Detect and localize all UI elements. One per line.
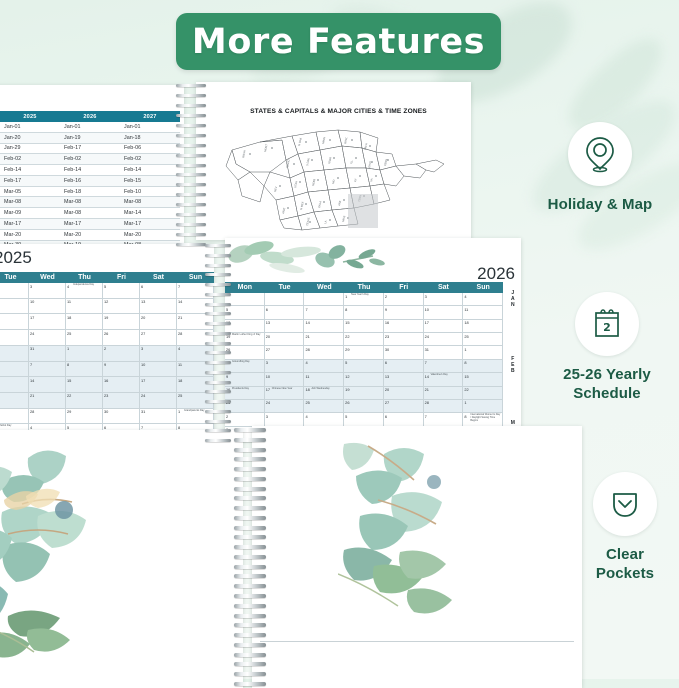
table-column-header: 2025 (0, 111, 60, 122)
table-cell: Feb-17 (60, 143, 120, 154)
calendar-day-cell[interactable]: 7 (29, 362, 66, 378)
calendar-week-row: 131415161718 (0, 377, 214, 393)
table-row: Jan-29Feb-17Feb-06 (0, 143, 180, 154)
calendar-day-cell[interactable]: 7 (424, 413, 464, 426)
day-number: 8 (345, 307, 347, 312)
calendar-week-row: 91011121314 (0, 299, 214, 315)
spiral-coil (234, 438, 266, 442)
calendar-2026-year: 2026 (477, 264, 515, 284)
calendar-day-cell[interactable]: 27 (0, 409, 29, 425)
calendar-day-cell[interactable]: 7 (304, 306, 344, 319)
spiral-coil (234, 516, 266, 520)
spiral-coil (234, 565, 266, 569)
calendar-day-cell[interactable]: 26 (103, 330, 140, 346)
calendar-day-cell[interactable]: 11 (66, 299, 103, 315)
calendar-day-cell[interactable]: 4 (304, 360, 344, 373)
table-cell: Jan-01 (60, 122, 120, 132)
day-number: 14 (425, 374, 429, 379)
calendar-day-cell[interactable]: 17 (29, 314, 66, 330)
table-cell: Feb-18 (60, 186, 120, 197)
day-number: 21 (30, 393, 34, 398)
day-number: 6 (385, 414, 387, 419)
spiral-coil (205, 361, 231, 364)
day-number: 15 (345, 320, 349, 325)
calendar-day-cell[interactable]: 17 (140, 377, 177, 393)
table-cell: Feb-02 (0, 154, 60, 165)
calendar-day-cell[interactable]: 16 (0, 314, 29, 330)
table-row: Feb-14Feb-14Feb-14 (0, 165, 180, 176)
weekday-label: Wed (304, 282, 344, 293)
table-column-header: 2026 (60, 111, 120, 122)
calendar-day-cell[interactable]: 24 (424, 333, 464, 346)
calendar-day-cell[interactable]: 27 (265, 346, 305, 359)
calendar-day-cell[interactable]: 17 (424, 320, 464, 333)
day-number: 22 (345, 334, 349, 339)
calendar-day-cell[interactable]: 19 (103, 314, 140, 330)
calendar-day-cell[interactable]: 2 (103, 346, 140, 362)
more-features-banner: More Features (176, 13, 501, 70)
spiral-coil (205, 273, 231, 276)
calendar-day-cell[interactable]: 6 (384, 413, 424, 426)
day-number: 17 (266, 387, 270, 392)
calendar-day-cell[interactable]: 15 (66, 377, 103, 393)
day-number: 19 (345, 387, 349, 392)
day-number: 15 (67, 378, 71, 383)
table-row: Mar-08Mar-08Mar-08 (0, 197, 180, 208)
weekday-label: Thu (66, 272, 103, 283)
spiral-coil (234, 526, 266, 530)
day-number: 11 (305, 374, 309, 379)
holiday-label: New Year's Day (351, 294, 382, 297)
feature-yearly-schedule[interactable]: 2 25-26 YearlySchedule (532, 292, 679, 403)
calendar-day-cell[interactable]: 13 (140, 299, 177, 315)
day-number: 25 (67, 331, 71, 336)
day-number: 23 (385, 334, 389, 339)
table-cell: Feb-10 (120, 186, 180, 197)
day-number: 8 (464, 360, 466, 365)
calendar-day-cell[interactable]: 1New Year's Day (344, 293, 384, 306)
spiral-coil (234, 653, 266, 657)
pocket-chevron-icon (607, 486, 643, 522)
table-cell: Mar-17 (0, 219, 60, 230)
calendar-day-cell[interactable]: 18Ash Wednesday (304, 387, 344, 400)
calendar-day-cell[interactable]: 28 (304, 346, 344, 359)
table-cell: Feb-02 (120, 154, 180, 165)
day-number: 4 (67, 284, 69, 289)
spiral-coil (234, 555, 266, 559)
day-number: 21 (425, 387, 429, 392)
table-row: Feb-17Feb-16Feb-15 (0, 175, 180, 186)
spiral-coil (205, 254, 231, 257)
calendar-day-cell[interactable]: 31 (424, 346, 464, 359)
calendar-day-cell[interactable]: 8 (66, 362, 103, 378)
calendar-day-cell[interactable]: 10 (140, 362, 177, 378)
calendar-day-cell[interactable]: 28 (424, 400, 464, 413)
spiral-coil (205, 390, 231, 393)
weekday-label: Fri (103, 272, 140, 283)
day-number: 7 (425, 414, 427, 419)
calendar-day-cell[interactable]: 13 (265, 320, 305, 333)
spiral-coil (234, 633, 266, 637)
day-number: 20 (141, 315, 145, 320)
day-number: 30 (104, 409, 108, 414)
day-number: 1 (464, 400, 466, 405)
weekday-label: Thu (344, 282, 384, 293)
calendar-day-cell[interactable] (304, 293, 344, 306)
calendar-day-cell[interactable]: 13 (0, 377, 29, 393)
weekday-header-2026: MonTueWedThuFriSatSun (225, 282, 503, 293)
table-cell: Mar-09 (0, 208, 60, 219)
calendar-week-row: 30311234 (0, 346, 214, 362)
feature-label: Holiday & Map (525, 195, 675, 214)
spiral-coil (234, 614, 266, 618)
calendar-day-cell[interactable]: 29 (66, 409, 103, 425)
table-cell: Mar-08 (60, 197, 120, 208)
calendar-day-cell[interactable]: 25 (463, 333, 503, 346)
feature-holiday-map[interactable]: Holiday & Map (525, 122, 675, 214)
spiral-coil (205, 264, 231, 267)
weekday-label: Tue (265, 282, 305, 293)
us-map-page: STATES & CAPITALS & MAJOR CITIES & TIME … (196, 82, 471, 240)
calendar-week-row: 91011121314Valentine's Day15 (225, 373, 503, 386)
weekday-header-2025: TueWedThuFriSatSun (0, 272, 214, 283)
spiral-coil (234, 448, 266, 452)
day-number: 14 (30, 378, 34, 383)
calendar-day-cell[interactable]: 5 (344, 413, 384, 426)
calendar-day-cell[interactable]: 9 (103, 362, 140, 378)
day-number: 2 (385, 294, 387, 299)
calendar-week-row: 27282930311Grandparents Day (0, 409, 214, 425)
day-number: 27 (385, 400, 389, 405)
spiral-coil (205, 244, 231, 247)
calendar-day-cell[interactable]: 24 (29, 330, 66, 346)
calendar-day-cell[interactable]: 13 (384, 373, 424, 386)
day-number: 24 (141, 393, 145, 398)
calendar-day-cell[interactable]: 20 (140, 314, 177, 330)
calendar-day-cell[interactable]: 25 (304, 400, 344, 413)
calendar-day-cell[interactable]: 31 (29, 346, 66, 362)
calendar-day-cell[interactable]: 3 (140, 346, 177, 362)
day-number: 21 (305, 334, 309, 339)
floral-decoration (225, 238, 415, 282)
calendar-day-cell[interactable]: 3 (265, 360, 305, 373)
feature-label: ClearPockets (550, 545, 679, 583)
calendar-day-cell[interactable]: 21 (29, 393, 66, 409)
day-number: 23 (104, 393, 108, 398)
table-row: Mar-05Feb-18Feb-10 (0, 186, 180, 197)
day-number: 27 (141, 331, 145, 336)
calendar-day-cell[interactable]: 4 (304, 413, 344, 426)
calendar-week-row: 567891011 (225, 306, 503, 319)
banner-title: More Features (192, 22, 485, 62)
calendar-day-cell[interactable]: 10 (29, 299, 66, 315)
spiral-coil (205, 429, 231, 432)
calendar-day-cell[interactable]: 10 (424, 306, 464, 319)
calendar-day-cell[interactable]: 15 (344, 320, 384, 333)
table-cell: Mar-05 (0, 186, 60, 197)
day-number: 10 (425, 307, 429, 312)
spiral-coil (234, 487, 266, 491)
calendar-day-cell[interactable]: 11 (463, 306, 503, 319)
day-number: 18 (464, 320, 468, 325)
day-number: 28 (178, 331, 182, 336)
calendar-week-row: 2627282930311 (225, 346, 503, 359)
day-number: 25 (178, 393, 182, 398)
calendar-day-cell[interactable]: 2 (384, 293, 424, 306)
calendar-day-cell[interactable]: 4 (463, 293, 503, 306)
calendar-day-cell[interactable]: 8 (463, 360, 503, 373)
calendar-day-cell[interactable]: 30 (384, 346, 424, 359)
spiral-coil (205, 381, 231, 384)
calendar-day-cell[interactable]: 10 (265, 373, 305, 386)
spiral-coil (234, 574, 266, 578)
calendar-day-cell[interactable]: 23 (103, 393, 140, 409)
holiday-label: Independence Day (73, 284, 101, 287)
calendar-day-cell[interactable]: 26 (344, 400, 384, 413)
calendar-week-row: 67891011 (0, 362, 214, 378)
calendar-week-row: 12131415161718 (225, 320, 503, 333)
day-number: 4 (305, 360, 307, 365)
calendar-day-cell[interactable]: 19 (344, 387, 384, 400)
calendar-icon: 2 (589, 305, 625, 343)
day-number: 8 (464, 414, 466, 419)
calendar-day-cell[interactable]: 2 (0, 283, 29, 299)
day-number: 10 (266, 374, 270, 379)
calendar-day-cell[interactable]: 24 (265, 400, 305, 413)
day-number: 8 (67, 362, 69, 367)
day-number: 12 (104, 299, 108, 304)
table-body: Jan-01Jan-01Jan-01Jan-20Jan-19Jan-18Jan-… (0, 122, 180, 245)
calendar-day-cell[interactable]: 15 (463, 373, 503, 386)
spiral-coil (176, 134, 206, 137)
calendar-day-cell[interactable]: 27 (384, 400, 424, 413)
table-cell: Jan-01 (120, 122, 180, 132)
calendar-day-cell[interactable]: 24 (140, 393, 177, 409)
table-cell: Jan-19 (60, 132, 120, 143)
spiral-coil (176, 104, 206, 107)
table-cell: Mar-17 (60, 219, 120, 230)
calendar-day-cell[interactable]: 12 (344, 373, 384, 386)
day-number: 20 (266, 334, 270, 339)
calendar-day-cell[interactable]: 28 (29, 409, 66, 425)
day-number: 14 (178, 299, 182, 304)
day-number: 31 (141, 409, 145, 414)
calendar-day-cell[interactable]: 14 (304, 320, 344, 333)
calendar-day-cell[interactable]: 9 (0, 299, 29, 315)
calendar-grid-2025: 234Independence Day567910111213141617181… (0, 283, 214, 440)
day-number: 9 (385, 307, 387, 312)
calendar-day-cell[interactable]: 30 (103, 409, 140, 425)
calendar-day-cell[interactable]: 5 (344, 360, 384, 373)
spiral-coil (176, 144, 206, 147)
day-number: 3 (141, 346, 143, 351)
day-number: 11 (67, 299, 71, 304)
day-number: 6 (385, 360, 387, 365)
spiral-coil (176, 213, 206, 216)
day-number: 6 (141, 284, 143, 289)
calendar-day-cell[interactable]: 3 (424, 293, 464, 306)
calendar-day-cell[interactable]: 31 (140, 409, 177, 425)
table-cell: Mar-08 (0, 197, 60, 208)
spiral-coil (176, 193, 206, 196)
day-number: 5 (345, 360, 347, 365)
weekday-label: Sun (463, 282, 503, 293)
calendar-day-cell[interactable]: 21 (424, 387, 464, 400)
calendar-day-cell[interactable]: 6 (265, 306, 305, 319)
spiral-coil (205, 410, 231, 413)
table-cell: Feb-14 (120, 165, 180, 176)
table-cell: Mar-20 (120, 229, 180, 240)
weekday-label: Fri (384, 282, 424, 293)
calendar-week-row: 2324252627281 (225, 400, 503, 413)
calendar-day-cell[interactable]: 4Independence Day (66, 283, 103, 299)
day-number: 2 (104, 346, 106, 351)
calendar-day-cell[interactable]: 6 (384, 360, 424, 373)
calendar-day-cell[interactable]: 8International Women's Day / Daylight Sa… (463, 413, 503, 426)
notebook-page-right (252, 426, 582, 688)
feature-label-line: Clear (550, 545, 679, 564)
day-number: 4 (178, 346, 180, 351)
calendar-day-cell[interactable]: 3 (265, 413, 305, 426)
calendar-day-cell[interactable]: 22 (344, 333, 384, 346)
day-number: 14 (305, 320, 309, 325)
spiral-coil (176, 164, 206, 167)
calendar-day-cell[interactable]: 6 (140, 283, 177, 299)
day-number: 1 (67, 346, 69, 351)
spiral-coil (176, 173, 206, 176)
spiral-coil (234, 477, 266, 481)
calendar-day-cell[interactable]: 23 (384, 333, 424, 346)
calendar-day-cell[interactable]: 17Chinese New Year (265, 387, 305, 400)
calendar-day-cell[interactable]: 21 (304, 333, 344, 346)
day-number: 7 (30, 362, 32, 367)
calendar-day-cell[interactable]: 20 (265, 333, 305, 346)
holiday-label: Presidents Day (232, 388, 263, 391)
calendar-day-cell[interactable]: 16 (103, 377, 140, 393)
weekday-label: Sat (424, 282, 464, 293)
day-number: 26 (104, 331, 108, 336)
table-cell: Feb-14 (60, 165, 120, 176)
day-number: 16 (104, 378, 108, 383)
month-tab-jan: JAN (505, 290, 521, 308)
weekday-label: Tue (0, 272, 29, 283)
map-page-title: STATES & CAPITALS & MAJOR CITIES & TIME … (212, 108, 465, 115)
table-cell: Jan-29 (0, 143, 60, 154)
calendar-day-cell[interactable]: 20 (384, 387, 424, 400)
calendar-day-cell[interactable]: 1 (66, 346, 103, 362)
weekday-label: Sat (140, 272, 177, 283)
day-number: 17 (141, 378, 145, 383)
calendar-week-row: 1New Year's Day234 (225, 293, 503, 306)
spiral-coil (205, 420, 231, 423)
calendar-day-cell[interactable]: 29 (344, 346, 384, 359)
calendar-2025-page: 2025 TueWedThuFriSatSun 234Independence … (0, 244, 214, 440)
calendar-day-cell[interactable]: 12 (103, 299, 140, 315)
day-number: 20 (385, 387, 389, 392)
feature-label: 25-26 YearlySchedule (532, 365, 679, 403)
spiral-coil (234, 672, 266, 676)
day-number: 21 (178, 315, 182, 320)
calendar-day-cell[interactable]: 5 (103, 283, 140, 299)
table-cell: Jan-20 (0, 132, 60, 143)
day-number: 10 (30, 299, 34, 304)
calendar-day-cell[interactable]: 9 (384, 306, 424, 319)
calendar-day-cell[interactable]: 11 (304, 373, 344, 386)
spiral-coil (234, 496, 266, 500)
calendar-day-cell[interactable]: 14 (29, 377, 66, 393)
calendar-day-cell[interactable] (265, 293, 305, 306)
table-cell: Feb-17 (0, 175, 60, 186)
holiday-dates-table: 202520262027 Jan-01Jan-01Jan-01Jan-20Jan… (0, 111, 180, 245)
spiral-coil (176, 243, 206, 246)
spiral-coil (234, 428, 266, 432)
calendar-week-row: 2Groundhog Day345678 (225, 360, 503, 373)
calendar-day-cell[interactable]: 1 (463, 400, 503, 413)
day-number: 17 (30, 315, 34, 320)
calendar-day-cell[interactable]: 16 (384, 320, 424, 333)
calendar-week-row: 19Martin Luther King Jr Day202122232425 (225, 333, 503, 346)
day-number: 1 (178, 409, 180, 414)
calendar-day-cell[interactable]: 8 (344, 306, 384, 319)
day-number: 3 (266, 414, 268, 419)
calendar-day-cell[interactable]: 18 (66, 314, 103, 330)
watercolor-eucalyptus-left (0, 438, 168, 688)
day-number: 4 (305, 414, 307, 419)
calendar-week-row: 16Presidents Day17Chinese New Year18Ash … (225, 387, 503, 400)
day-number: 1 (345, 294, 347, 299)
day-number: 9 (104, 362, 106, 367)
table-cell: Feb-06 (120, 143, 180, 154)
calendar-2025-year: 2025 (0, 248, 32, 268)
calendar-day-cell[interactable]: 30 (0, 346, 29, 362)
table-row: Jan-01Jan-01Jan-01 (0, 122, 180, 132)
calendar-week-row: 2345678International Women's Day / Dayli… (225, 413, 503, 426)
calendar-day-cell[interactable]: 14Valentine's Day (424, 373, 464, 386)
table-cell: Feb-16 (60, 175, 120, 186)
holiday-label: Groundhog Day (232, 361, 263, 364)
calendar-day-cell[interactable]: 27 (140, 330, 177, 346)
spiral-coil (234, 545, 266, 549)
spiral-coil (205, 312, 231, 315)
calendar-day-cell[interactable]: 1 (463, 346, 503, 359)
calendar-day-cell[interactable]: 6 (0, 362, 29, 378)
feature-clear-pockets[interactable]: ClearPockets (550, 472, 679, 583)
day-number: 27 (266, 347, 270, 352)
table-cell: Feb-15 (120, 175, 180, 186)
calendar-day-cell[interactable]: 7 (424, 360, 464, 373)
calendar-day-cell[interactable]: 18 (463, 320, 503, 333)
day-number: 7 (305, 307, 307, 312)
spiral-coil (234, 584, 266, 588)
calendar-day-cell[interactable]: 3 (29, 283, 66, 299)
spiral-coil (205, 293, 231, 296)
day-number: 5 (104, 284, 106, 289)
calendar-day-cell[interactable]: 25 (66, 330, 103, 346)
page-divider-line (260, 641, 574, 642)
table-cell: Jan-01 (0, 122, 60, 132)
calendar-day-cell[interactable]: 22 (66, 393, 103, 409)
calendar-grid-2026: 1New Year's Day2345678910111213141516171… (225, 293, 503, 440)
day-number: 26 (345, 400, 349, 405)
day-number: 18 (305, 387, 309, 392)
calendar-day-cell[interactable]: 22 (463, 387, 503, 400)
table-row: Feb-02Feb-02Feb-02 (0, 154, 180, 165)
calendar-week-row: 202122232425 (0, 393, 214, 409)
table-cell: Mar-08 (120, 197, 180, 208)
calendar-day-cell[interactable]: 20 (0, 393, 29, 409)
calendar-day-cell[interactable]: 23 (0, 330, 29, 346)
holiday-label: Chinese New Year (272, 388, 303, 391)
